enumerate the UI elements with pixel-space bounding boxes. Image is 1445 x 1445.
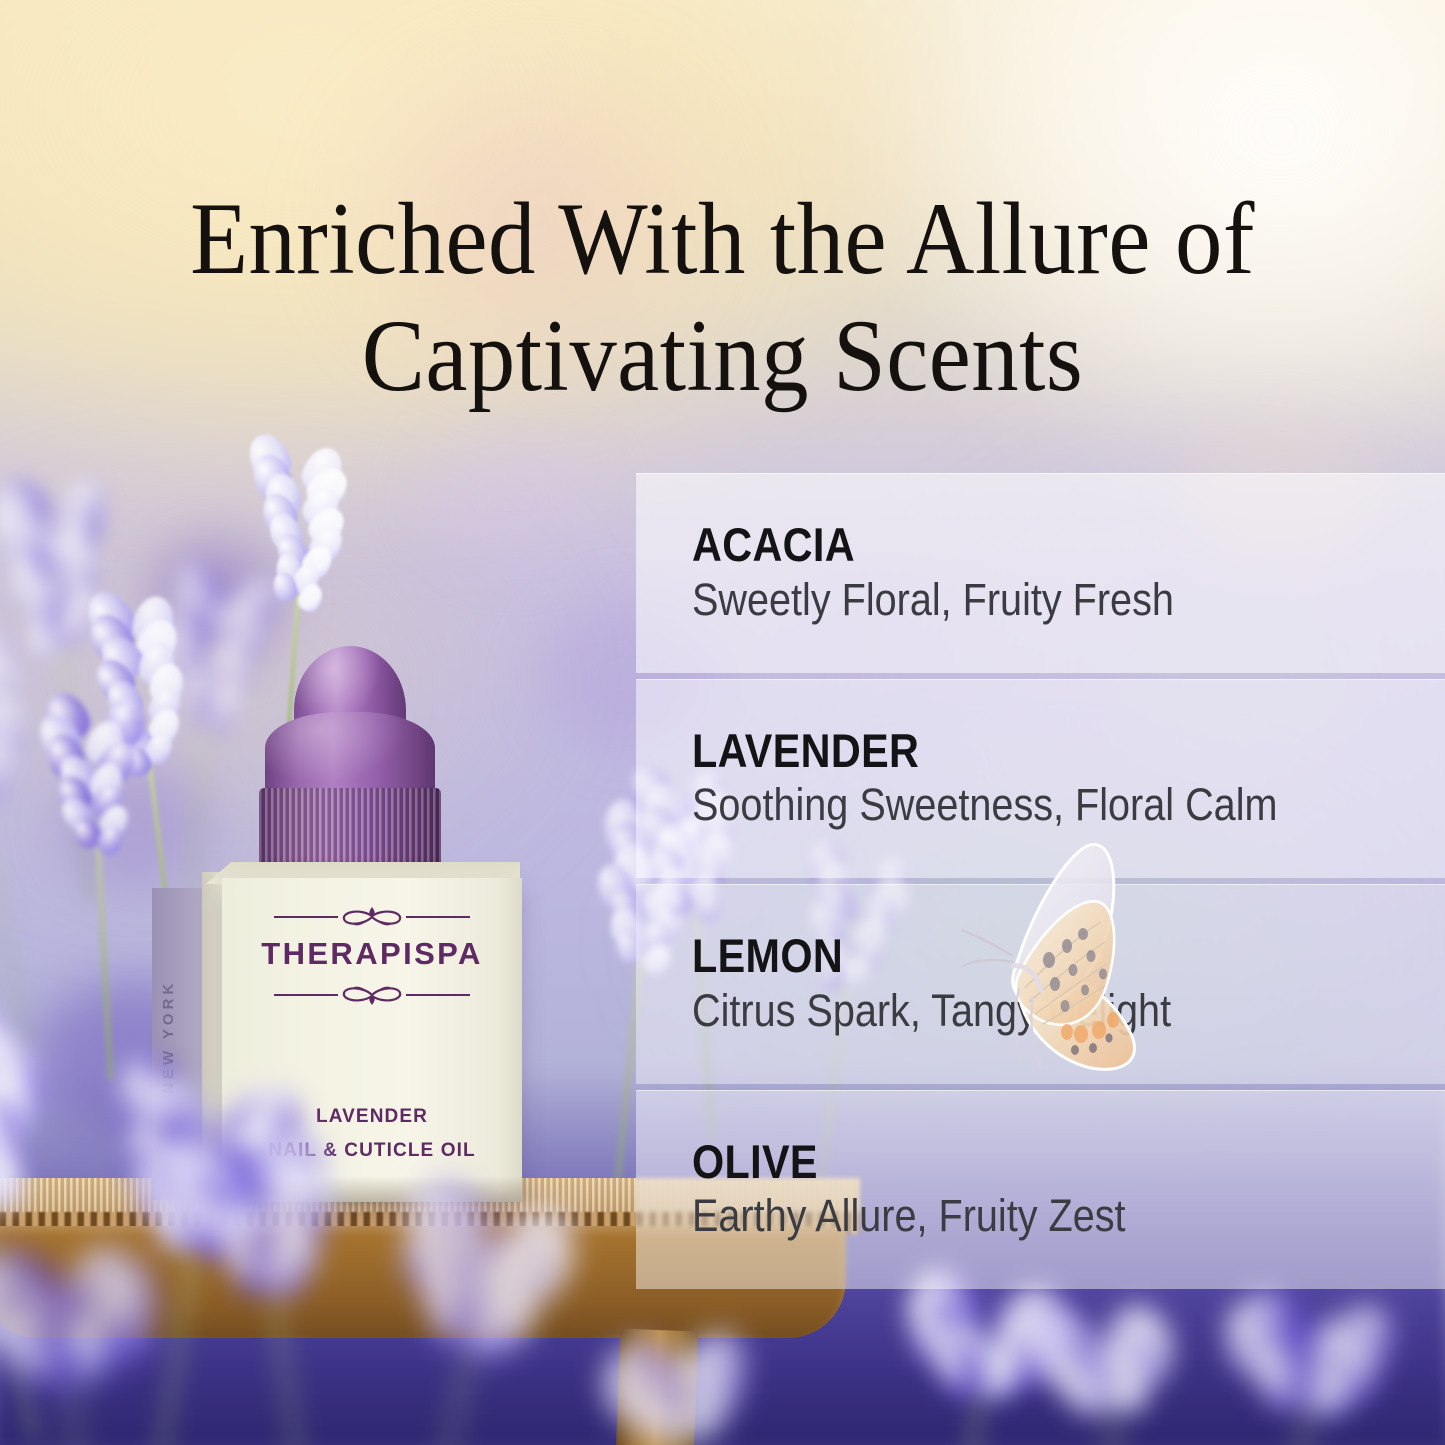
scent-card-acacia[interactable]: ACACIA Sweetly Floral, Fruity Fresh (636, 473, 1445, 673)
flourish-icon (272, 904, 472, 930)
scent-description: Soothing Sweetness, Floral Calm (692, 780, 1355, 830)
lavender-sprig-icon (1016, 1292, 1199, 1445)
scent-name: ACACIA (692, 520, 1355, 571)
dropper-cap (150, 640, 550, 870)
scent-name: LAVENDER (692, 726, 1355, 777)
scent-card-olive[interactable]: OLIVE Earthy Allure, Fruity Zest (636, 1090, 1445, 1290)
page-title: Enriched With the Allure of Captivating … (58, 181, 1387, 416)
lavender-sprig-icon (40, 688, 160, 1083)
bokeh-blob (420, 430, 600, 570)
brand-name: THERAPISPA (222, 936, 522, 972)
butterfly-icon (955, 838, 1170, 1088)
lavender-stem (95, 838, 113, 1080)
ornament-top (272, 904, 472, 930)
lavender-sprig-icon (0, 1232, 180, 1445)
cap-ribbed-grip (259, 788, 441, 870)
flourish-icon (272, 982, 472, 1008)
ornament-bottom (272, 982, 472, 1008)
scent-description: Earthy Allure, Fruity Zest (692, 1191, 1355, 1241)
lavender-sprig-icon (1210, 1282, 1402, 1445)
scent-name: OLIVE (692, 1137, 1355, 1188)
promo-banner: THERAPISPA LAVENDER NAIL & CUTICLE OIL N… (0, 0, 1445, 1445)
scent-description: Sweetly Floral, Fruity Fresh (692, 575, 1355, 625)
